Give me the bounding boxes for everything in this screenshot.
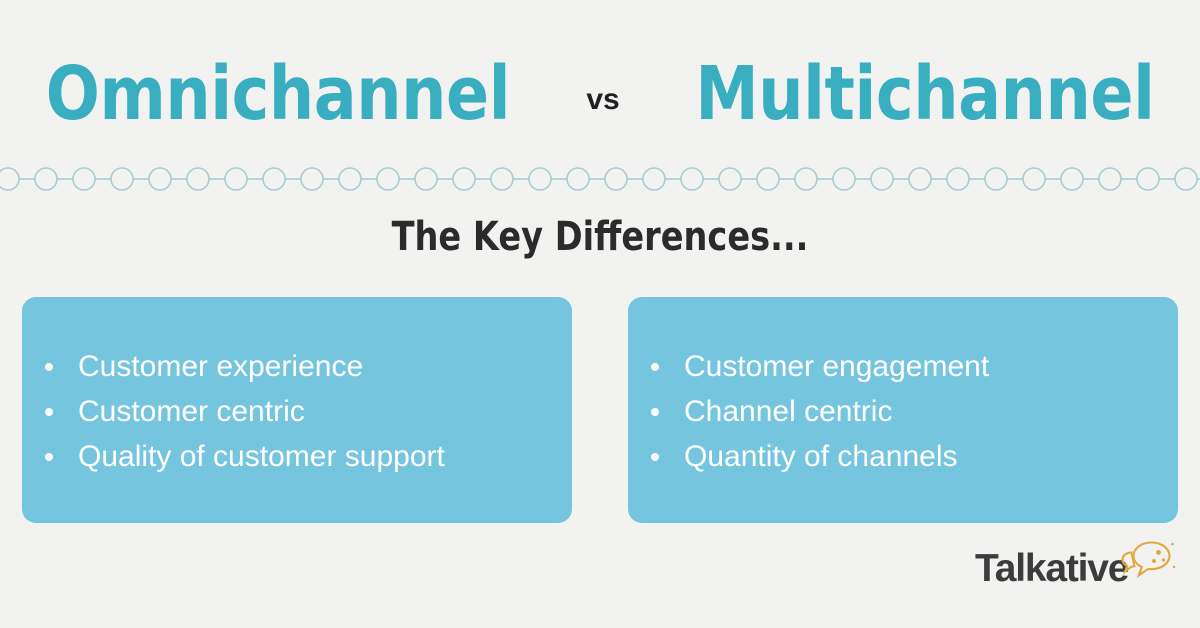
bullet-dot-icon — [651, 453, 659, 461]
title-term-omnichannel: Omnichannel — [46, 51, 510, 137]
bullet-dot-icon — [45, 453, 53, 461]
logo-wordmark: Talkative — [975, 548, 1128, 590]
bullet-label: Customer experience — [78, 350, 363, 383]
bullet-dot-icon — [651, 363, 659, 371]
chain-divider-graphic — [0, 162, 1200, 196]
title-versus-label: vs — [586, 83, 619, 117]
bullet-label: Quantity of channels — [684, 440, 958, 473]
bullet-label: Customer engagement — [684, 350, 989, 383]
list-item: Customer engagement — [628, 344, 1178, 389]
bullet-label: Quality of customer support — [78, 440, 445, 473]
list-item: Quality of customer support — [22, 434, 572, 479]
subtitle-key-differences: The Key Differences... — [96, 212, 1104, 262]
title-row: Omnichannel vs Multichannel — [0, 46, 1200, 142]
talkative-logo: Talkative — [975, 540, 1180, 596]
list-item: Customer experience — [22, 344, 572, 389]
bullet-dot-icon — [45, 408, 53, 416]
speech-bubbles-icon — [1114, 536, 1180, 582]
list-item: Channel centric — [628, 389, 1178, 434]
bullet-dot-icon — [651, 408, 659, 416]
comparison-card-omnichannel: Customer experience Customer centric Qua… — [22, 297, 572, 523]
bullet-label: Customer centric — [78, 395, 305, 428]
list-item: Customer centric — [22, 389, 572, 434]
bullet-dot-icon — [45, 363, 53, 371]
infographic-canvas: Omnichannel vs Multichannel The Key Diff… — [0, 0, 1200, 628]
list-item: Quantity of channels — [628, 434, 1178, 479]
title-term-multichannel: Multichannel — [695, 51, 1154, 137]
bullet-list-multichannel: Customer engagement Channel centric Quan… — [628, 344, 1178, 479]
comparison-card-multichannel: Customer engagement Channel centric Quan… — [628, 297, 1178, 523]
chain-divider — [0, 162, 1200, 196]
bullet-list-omnichannel: Customer experience Customer centric Qua… — [22, 344, 572, 479]
bullet-label: Channel centric — [684, 395, 892, 428]
